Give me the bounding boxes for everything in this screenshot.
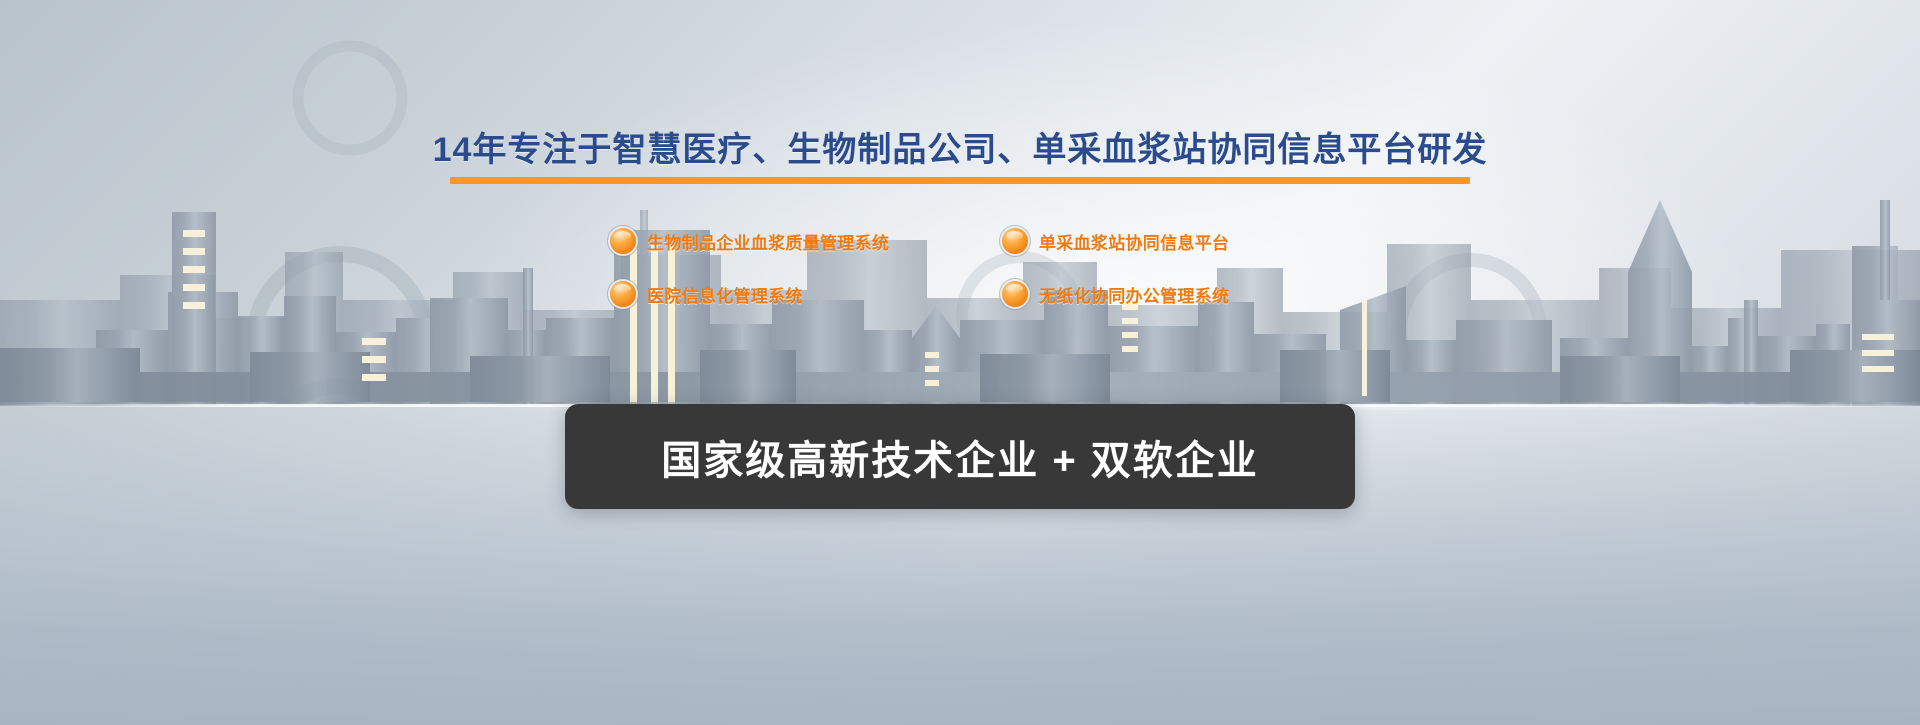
- feature-label: 生物制品企业血浆质量管理系统: [647, 229, 889, 254]
- feature-item-plasma-quality[interactable]: 生物制品企业血浆质量管理系统: [610, 228, 1002, 254]
- feature-list: 生物制品企业血浆质量管理系统 单采血浆站协同信息平台 医院信息化管理系统 无纸化…: [610, 228, 1310, 307]
- feature-item-paperless-office[interactable]: 无纸化协同办公管理系统: [1002, 281, 1310, 307]
- orange-sphere-bullet-icon: [1002, 281, 1028, 307]
- orange-sphere-bullet-icon: [1002, 228, 1028, 254]
- page-title: 14年专注于智慧医疗、生物制品公司、单采血浆站协同信息平台研发: [433, 122, 1488, 171]
- feature-row: 医院信息化管理系统 无纸化协同办公管理系统: [610, 281, 1310, 307]
- feature-label: 医院信息化管理系统: [647, 282, 803, 307]
- hero-banner: 14年专注于智慧医疗、生物制品公司、单采血浆站协同信息平台研发 生物制品企业血浆…: [0, 0, 1920, 725]
- feature-label: 无纸化协同办公管理系统: [1039, 282, 1229, 307]
- orange-sphere-bullet-icon: [610, 281, 636, 307]
- badge-text: 国家级高新技术企业 + 双软企业: [661, 428, 1259, 486]
- certification-badge: 国家级高新技术企业 + 双软企业: [565, 404, 1355, 509]
- feature-item-plasma-station[interactable]: 单采血浆站协同信息平台: [1002, 228, 1310, 254]
- feature-row: 生物制品企业血浆质量管理系统 单采血浆站协同信息平台: [610, 228, 1310, 254]
- city-skyline-illustration: [0, 0, 1920, 725]
- title-underline-rule: [450, 177, 1470, 184]
- feature-item-hospital-info[interactable]: 医院信息化管理系统: [610, 281, 1002, 307]
- feature-label: 单采血浆站协同信息平台: [1039, 229, 1229, 254]
- orange-sphere-bullet-icon: [610, 228, 636, 254]
